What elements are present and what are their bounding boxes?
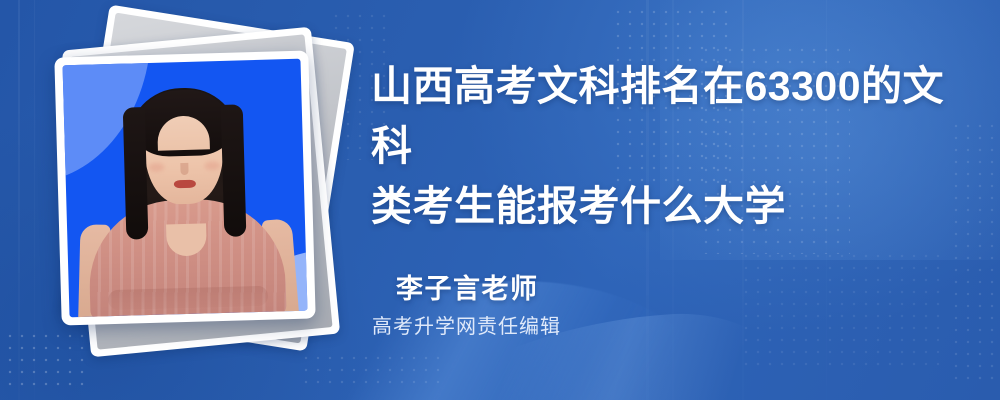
portrait-mouth <box>174 180 196 189</box>
banner-title-line-2: 类考生能报考什么大学 <box>371 176 951 236</box>
portrait-dress <box>87 197 286 317</box>
author-byline: 李子言老师 高考升学网责任编辑 <box>396 272 539 306</box>
author-name: 李子言老师 <box>396 272 539 306</box>
photo-card-front <box>54 51 315 326</box>
dot-grid-decoration <box>950 120 1000 380</box>
portrait-hair-side-left <box>123 107 149 240</box>
photo-card-stack <box>40 22 350 372</box>
author-role: 高考升学网责任编辑 <box>372 314 561 340</box>
banner-title-line-1: 山西高考文科排名在63300的文科 <box>371 56 951 176</box>
portrait-hair-side-right <box>221 104 247 237</box>
banner-text-column: 山西高考文科排名在63300的文科 类考生能报考什么大学 <box>371 56 951 236</box>
banner-root: 山西高考文科排名在63300的文科 类考生能报考什么大学 李子言老师 高考升学网… <box>0 0 1000 400</box>
portrait-illustration <box>63 59 308 318</box>
author-portrait-photo <box>63 59 308 318</box>
portrait-nose <box>180 163 188 175</box>
